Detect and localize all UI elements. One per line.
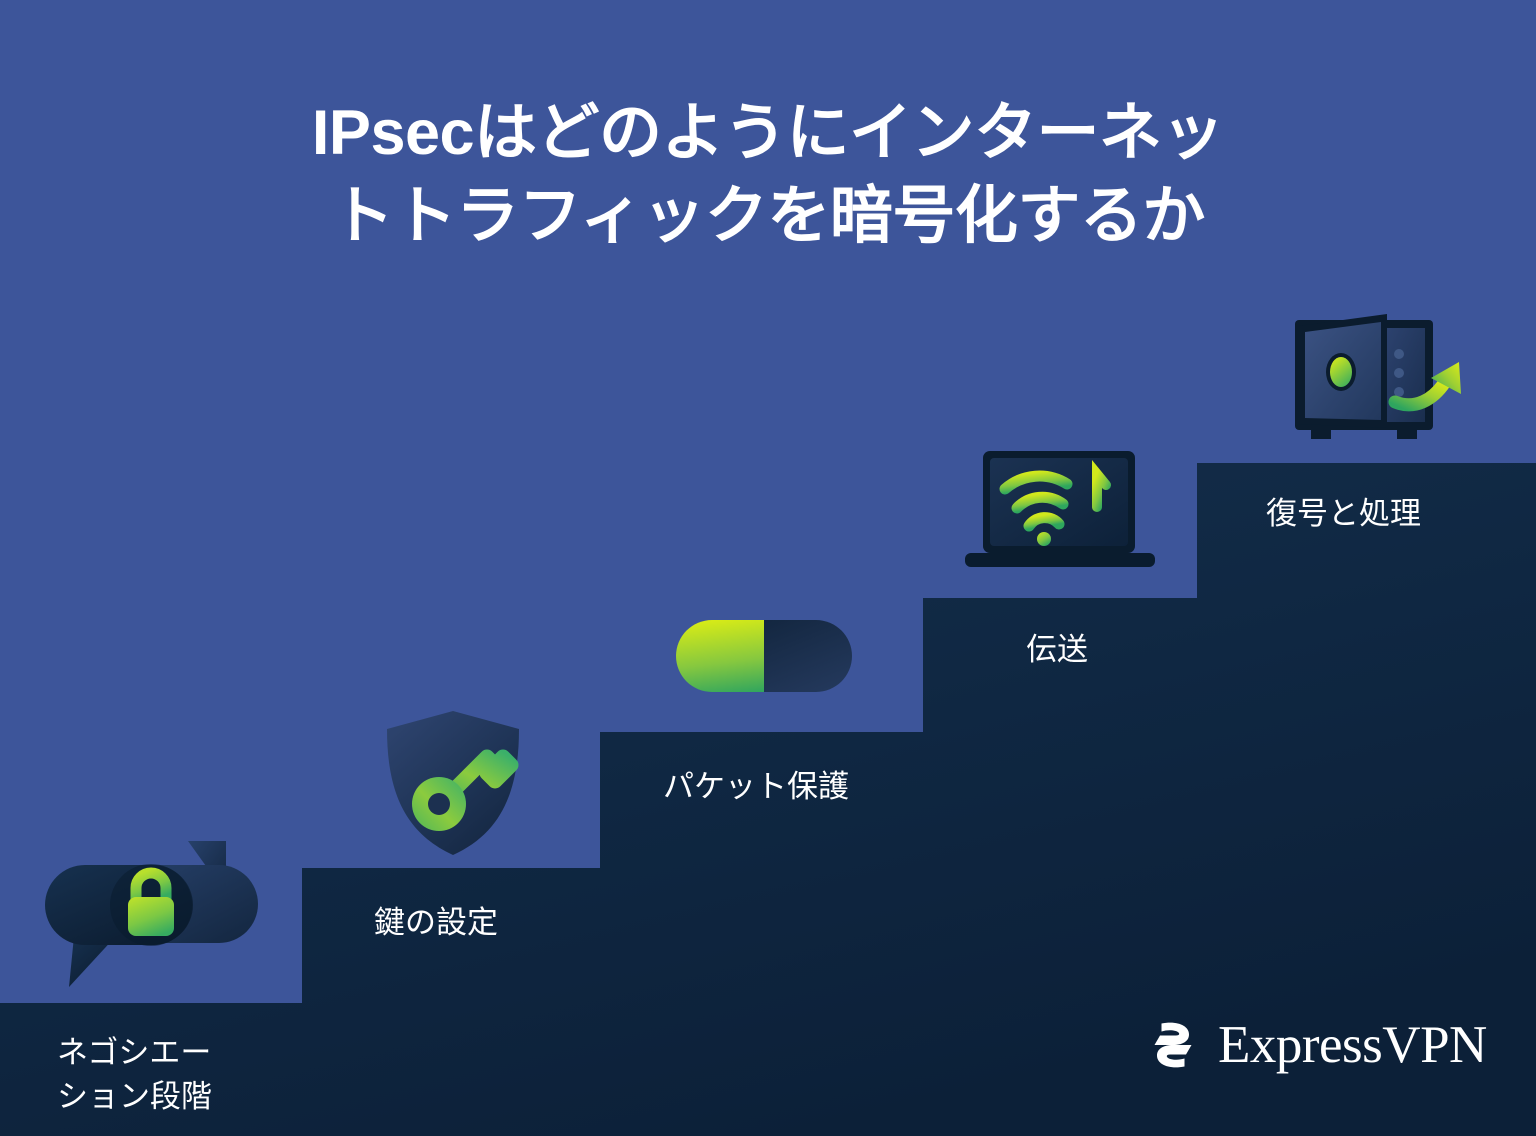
expressvpn-wordmark: ExpressVPN	[1218, 1019, 1487, 1072]
step-label-1: ネゴシエー ション段階	[57, 1031, 212, 1119]
step-label-5: 復号と処理	[1266, 492, 1421, 536]
safe-open-arrow-icon	[1283, 310, 1473, 450]
speech-bubbles-lock-icon	[38, 836, 270, 996]
infographic-canvas: IPsecはどのようにインターネッ トトラフィックを暗号化するか	[0, 0, 1536, 1136]
capsule-packet-icon	[676, 620, 852, 692]
step-label-3: パケット保護	[663, 765, 849, 809]
expressvpn-e-mark-icon	[1144, 1016, 1202, 1074]
page-title: IPsecはどのようにインターネッ トトラフィックを暗号化するか	[0, 92, 1536, 258]
laptop-wifi-icon	[963, 447, 1171, 577]
expressvpn-logo: ExpressVPN	[1144, 1014, 1472, 1076]
step-label-2: 鍵の設定	[374, 901, 498, 945]
shield-key-icon	[383, 707, 523, 859]
step-label-4: 伝送	[1026, 628, 1088, 672]
